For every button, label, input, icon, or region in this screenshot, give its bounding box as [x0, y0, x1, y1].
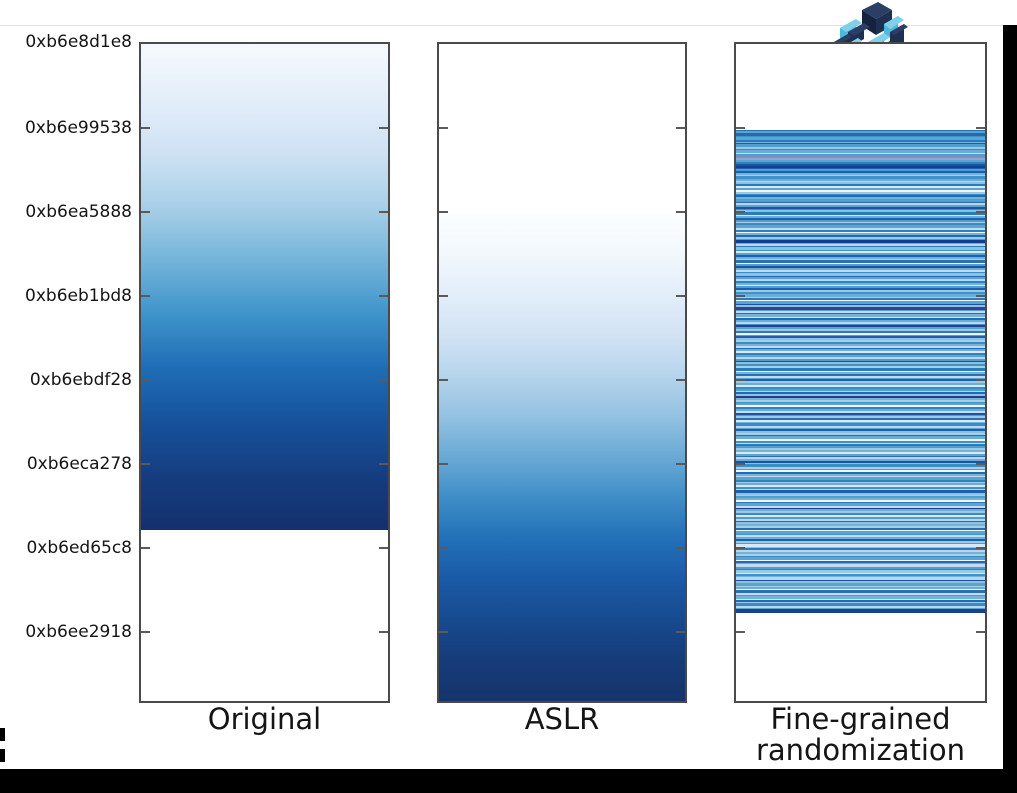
- tick-mark: [379, 379, 388, 381]
- y-axis-tick-label: 0xb6e99538: [0, 118, 132, 138]
- tick-mark: [736, 295, 745, 297]
- plot-area: OriginalASLRFine-grained randomization0x…: [0, 0, 1003, 770]
- figure-canvas: OriginalASLRFine-grained randomization0x…: [0, 0, 1017, 793]
- randomized-stripe-fill: [736, 130, 985, 612]
- tick-mark: [976, 631, 985, 633]
- tick-mark: [379, 127, 388, 129]
- tick-mark: [141, 463, 150, 465]
- tick-mark: [676, 463, 685, 465]
- gradient-fill: [141, 44, 388, 530]
- y-axis-tick-label: 0xb6e8d1e8: [0, 32, 132, 52]
- tick-mark: [439, 379, 448, 381]
- tick-mark: [141, 127, 150, 129]
- tick-mark: [976, 127, 985, 129]
- panel-caption-1: ASLR: [437, 704, 687, 735]
- tick-mark: [439, 127, 448, 129]
- tick-mark: [676, 631, 685, 633]
- tick-mark: [141, 379, 150, 381]
- tick-mark: [379, 631, 388, 633]
- tick-mark: [676, 295, 685, 297]
- tick-mark: [439, 211, 448, 213]
- tick-mark: [141, 631, 150, 633]
- tick-mark: [976, 463, 985, 465]
- tick-mark: [141, 211, 150, 213]
- tick-mark: [736, 631, 745, 633]
- right-frame-border: [1003, 25, 1017, 770]
- tick-mark: [379, 211, 388, 213]
- tick-mark: [676, 379, 685, 381]
- y-axis-tick-label: 0xb6ed65c8: [0, 538, 132, 558]
- tick-mark: [676, 547, 685, 549]
- y-axis-tick-label: 0xb6ea5888: [0, 202, 132, 222]
- tick-mark: [141, 547, 150, 549]
- tick-mark: [439, 295, 448, 297]
- memory-panel-original[interactable]: [139, 42, 390, 703]
- panel-caption-2: Fine-grained randomization: [722, 704, 999, 765]
- tick-mark: [976, 295, 985, 297]
- bottom-frame-border: [0, 769, 1017, 793]
- tick-mark: [736, 211, 745, 213]
- left-edge-mark-2: [0, 749, 5, 762]
- memory-panel-aslr[interactable]: [437, 42, 687, 703]
- tick-mark: [379, 295, 388, 297]
- y-axis-tick-label: 0xb6ee2918: [0, 622, 132, 642]
- tick-mark: [736, 127, 745, 129]
- tick-mark: [676, 127, 685, 129]
- tick-mark: [439, 463, 448, 465]
- tick-mark: [439, 547, 448, 549]
- y-axis-tick-label: 0xb6eca278: [0, 454, 132, 474]
- tick-mark: [141, 295, 150, 297]
- tick-mark: [976, 379, 985, 381]
- y-axis-tick-label: 0xb6ebdf28: [0, 370, 132, 390]
- tick-mark: [379, 547, 388, 549]
- tick-mark: [736, 547, 745, 549]
- tick-mark: [439, 631, 448, 633]
- tick-mark: [976, 547, 985, 549]
- tick-mark: [676, 211, 685, 213]
- tick-mark: [379, 463, 388, 465]
- left-edge-mark-1: [0, 728, 5, 741]
- tick-mark: [976, 211, 985, 213]
- tick-mark: [736, 379, 745, 381]
- memory-stripe: [736, 609, 985, 612]
- memory-panel-fine-grained-randomization[interactable]: [734, 42, 987, 703]
- gradient-fill: [439, 212, 685, 701]
- y-axis-tick-label: 0xb6eb1bd8: [0, 286, 132, 306]
- panel-caption-0: Original: [139, 704, 390, 735]
- tick-mark: [736, 463, 745, 465]
